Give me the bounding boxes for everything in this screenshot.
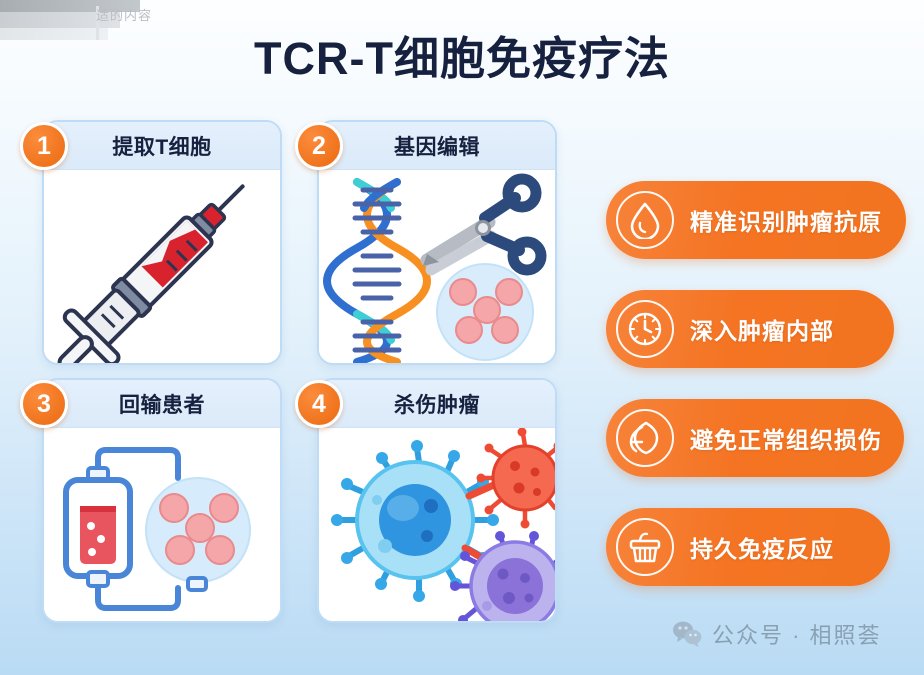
blood-bag-icon (66, 468, 130, 586)
benefit-pill-2[interactable]: 深入肿瘤内部 (606, 290, 894, 368)
step-card-4-header: 杀伤肿瘤 (319, 380, 555, 428)
step-card-2-illustration (319, 170, 555, 365)
step-card-1-label: 提取T细胞 (112, 131, 211, 161)
shield-leaf-icon (616, 409, 674, 467)
step-card-2-header: 基因编辑 (319, 122, 555, 170)
chrome-ghost-text: 适的内容 (96, 6, 188, 26)
step-badge-4: 4 (295, 380, 343, 428)
droplet-icon (616, 191, 674, 249)
step-card-2: 基因编辑 (317, 120, 557, 365)
step-card-1: 提取T细胞 (42, 120, 282, 365)
step-card-1-header: 提取T细胞 (44, 122, 280, 170)
step-card-4: 杀伤肿瘤 (317, 378, 557, 623)
dna-helix-icon (327, 182, 427, 362)
step-badge-2: 2 (295, 122, 343, 170)
basket-icon (616, 518, 674, 576)
benefit-pill-4[interactable]: 持久免疫反应 (606, 508, 890, 586)
step-badge-1: 1 (20, 122, 68, 170)
step-card-3-illustration (44, 428, 280, 623)
syringe-icon (44, 170, 280, 365)
step-card-3-header: 回输患者 (44, 380, 280, 428)
step-card-3-label: 回输患者 (119, 389, 205, 419)
scissors-icon (423, 179, 541, 270)
benefit-pill-2-label: 深入肿瘤内部 (690, 312, 834, 346)
benefit-pill-4-label: 持久免疫反应 (690, 530, 834, 564)
step-card-4-illustration (319, 428, 555, 623)
clock-icon (616, 300, 674, 358)
benefit-pill-3-label: 避免正常组织损伤 (690, 421, 882, 455)
footer-text: 公众号 · 相照荟 (712, 618, 882, 650)
tumor-cell-red-icon (477, 428, 556, 529)
chrome-bar-bottom (0, 28, 108, 40)
step-card-2-label: 基因编辑 (394, 131, 480, 161)
step-badge-3: 3 (20, 380, 68, 428)
cell-sphere-icon (146, 478, 250, 590)
footer-watermark: 公众号 · 相照荟 (672, 618, 882, 650)
benefit-pill-1-label: 精准识别肿瘤抗原 (690, 203, 882, 237)
benefit-pill-1[interactable]: 精准识别肿瘤抗原 (606, 181, 906, 259)
cell-sphere-icon (437, 264, 533, 360)
step-card-3: 回输患者 (42, 378, 282, 623)
wechat-icon (672, 621, 702, 647)
step-card-1-illustration (44, 170, 280, 365)
benefit-pill-3[interactable]: 避免正常组织损伤 (606, 399, 904, 477)
step-card-4-label: 杀伤肿瘤 (394, 389, 480, 419)
cropped-app-chrome: 适的内容 (0, 0, 186, 40)
